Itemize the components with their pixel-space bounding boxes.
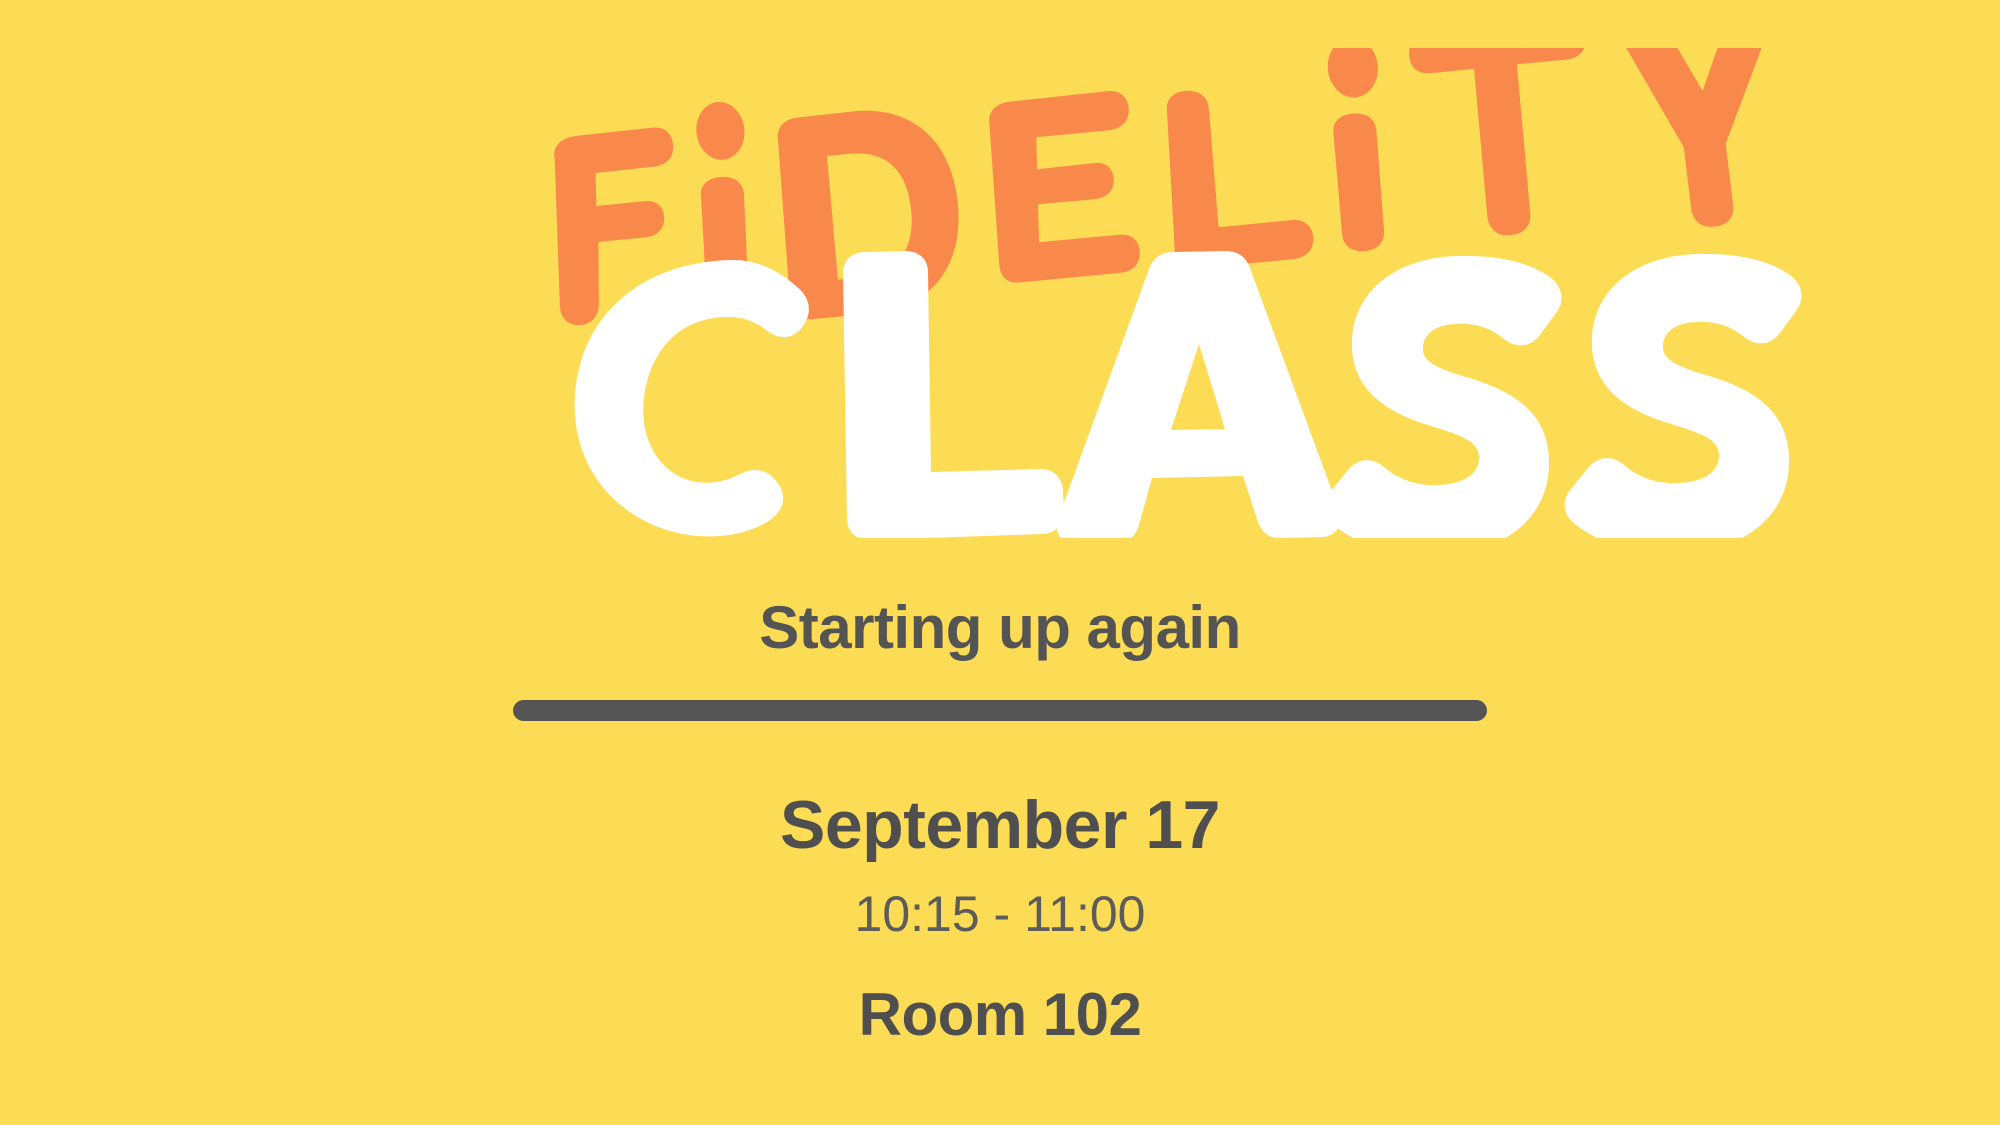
details-block: Starting up again September 17 10:15 - 1… <box>0 580 2000 1045</box>
event-date: September 17 <box>0 721 2000 859</box>
slide-canvas: Starting up again September 17 10:15 - 1… <box>0 0 2000 1125</box>
title-wordmark <box>0 48 2000 538</box>
title-line-2-class <box>575 251 1802 538</box>
event-room: Room 102 <box>0 939 2000 1045</box>
subtitle-text: Starting up again <box>0 580 2000 658</box>
divider-rule <box>513 700 1487 721</box>
divider-container <box>0 700 2000 721</box>
event-time: 10:15 - 11:00 <box>0 859 2000 939</box>
